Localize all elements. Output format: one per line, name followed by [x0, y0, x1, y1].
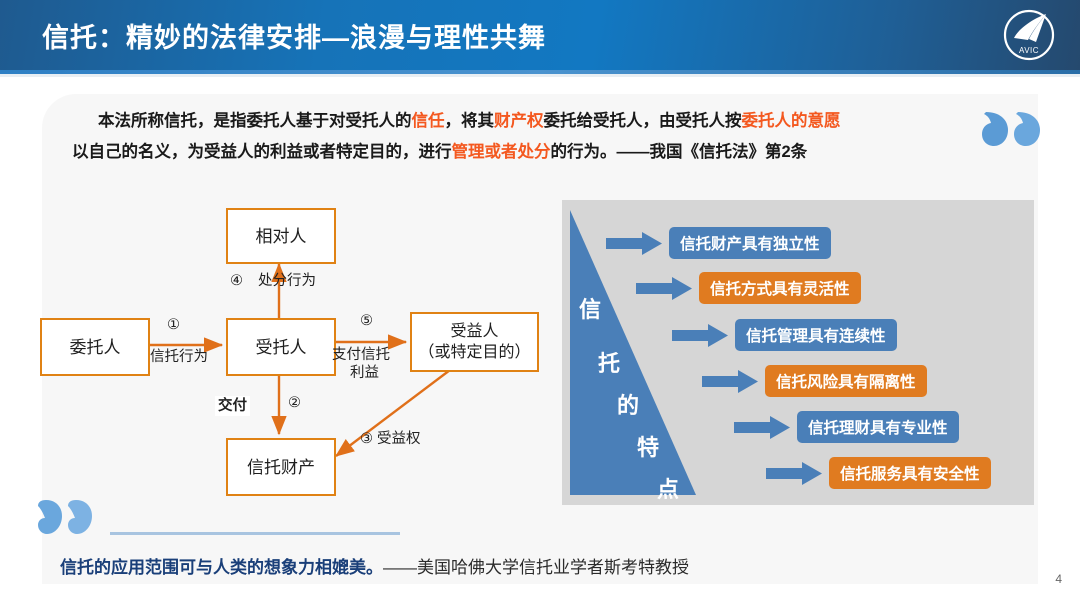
feature-chip-0: 信托财产具有独立性 — [669, 227, 831, 259]
law-quote-text: 本法所称信托，是指委托人基于对受托人的信任，将其财产权委托给受托人，由受托人按委… — [72, 106, 972, 168]
law-seg-4: 以自己的名义，为受益人的利益或者特定目的，进行 — [72, 143, 452, 161]
diagram-node-trustee: 受托人 — [226, 318, 336, 376]
feature-chip-3: 信托风险具有隔离性 — [765, 365, 927, 397]
bottom-quote-source: ——美国哈佛大学信托业学者斯考特教授 — [383, 558, 689, 577]
diagram-node-trust-property: 信托财产 — [226, 438, 336, 496]
feature-chip-5: 信托服务具有安全性 — [829, 457, 991, 489]
bottom-quote-mark-icon — [38, 500, 94, 534]
diagram-node-beneficiary-label-2: （或特定目的） — [418, 342, 530, 363]
law-seg-1: 本法所称信托，是指委托人基于对受托人的 — [98, 112, 412, 130]
arrow-right-icon — [766, 462, 822, 485]
feature-row-1[interactable]: 信托方式具有灵活性 — [636, 272, 861, 304]
header-underline-secondary — [0, 74, 1080, 77]
law-highlight-3: 委托人的意愿 — [742, 112, 841, 130]
arrow-right-icon — [606, 232, 662, 255]
bottom-quote-divider — [110, 532, 400, 535]
diagram-label-step4-text: 处分行为 — [258, 272, 316, 290]
law-seg-2: ，将其 — [445, 112, 495, 130]
diagram-label-step2-text: 交付 — [215, 396, 250, 416]
svg-text:AVIC: AVIC — [1019, 46, 1039, 55]
law-highlight-4: 管理或者处分 — [452, 143, 551, 161]
triangle-char-3: 特 — [637, 430, 659, 462]
page-number: 4 — [1055, 572, 1062, 586]
arrow-right-icon — [734, 416, 790, 439]
triangle-char-1: 托 — [598, 346, 620, 378]
law-highlight-1: 信任 — [412, 112, 445, 130]
diagram-label-step3: ③ 受益权 — [360, 430, 421, 448]
trust-relationship-diagram: 相对人 委托人 受托人 受益人 （或特定目的） 信托财产 ① 信托行为 ② 交付… — [30, 190, 560, 500]
diagram-label-step5-text-2: 利益 — [350, 364, 379, 382]
diagram-label-step5-text-1: 支付信托 — [332, 346, 390, 364]
feature-chip-1: 信托方式具有灵活性 — [699, 272, 861, 304]
diagram-label-step2-number: ② — [288, 394, 301, 412]
diagram-node-beneficiary: 受益人 （或特定目的） — [410, 312, 539, 372]
triangle-char-0: 信 — [579, 292, 601, 324]
diagram-node-counterparty-label: 相对人 — [256, 226, 307, 247]
diagram-label-step1-text: 信托行为 — [150, 348, 208, 366]
diagram-node-settlor-label: 委托人 — [70, 337, 121, 358]
diagram-node-beneficiary-label-1: 受益人 — [418, 321, 530, 342]
feature-row-4[interactable]: 信托理财具有专业性 — [734, 411, 959, 443]
avic-logo-icon: AVIC — [1002, 8, 1056, 62]
page-title: 信托：精妙的法律安排—浪漫与理性共舞 — [42, 16, 546, 55]
bottom-quote: 信托的应用范围可与人类的想象力相媲美。——美国哈佛大学信托业学者斯考特教授 — [60, 553, 689, 578]
triangle-char-4: 点 — [657, 472, 679, 504]
diagram-label-step1-number: ① — [167, 316, 180, 334]
trust-features-panel: 信 托 的 特 点 信托财产具有独立性 信托方式具有灵活性 信托管理具有连续性 … — [562, 200, 1034, 505]
feature-row-2[interactable]: 信托管理具有连续性 — [672, 319, 897, 351]
quote-mark-decoration-icon — [980, 108, 1044, 148]
feature-row-5[interactable]: 信托服务具有安全性 — [766, 457, 991, 489]
bottom-quote-text: 信托的应用范围可与人类的想象力相媲美。 — [60, 558, 383, 577]
diagram-label-step5-number: ⑤ — [360, 312, 373, 330]
triangle-char-2: 的 — [617, 388, 639, 420]
feature-chip-4: 信托理财具有专业性 — [797, 411, 959, 443]
diagram-node-trustee-label: 受托人 — [256, 337, 307, 358]
arrow-right-icon — [672, 324, 728, 347]
law-seg-3: 委托给受托人，由受托人按 — [544, 112, 742, 130]
arrow-right-icon — [636, 277, 692, 300]
feature-chip-2: 信托管理具有连续性 — [735, 319, 897, 351]
diagram-label-step4-number: ④ — [230, 272, 243, 290]
law-highlight-2: 财产权 — [494, 112, 544, 130]
diagram-node-counterparty: 相对人 — [226, 208, 336, 264]
feature-row-0[interactable]: 信托财产具有独立性 — [606, 227, 831, 259]
diagram-node-trust-property-label: 信托财产 — [247, 457, 315, 478]
arrow-right-icon — [702, 370, 758, 393]
feature-row-3[interactable]: 信托风险具有隔离性 — [702, 365, 927, 397]
law-seg-5: 的行为。——我国《信托法》第2条 — [551, 143, 808, 161]
diagram-node-settlor: 委托人 — [40, 318, 150, 376]
